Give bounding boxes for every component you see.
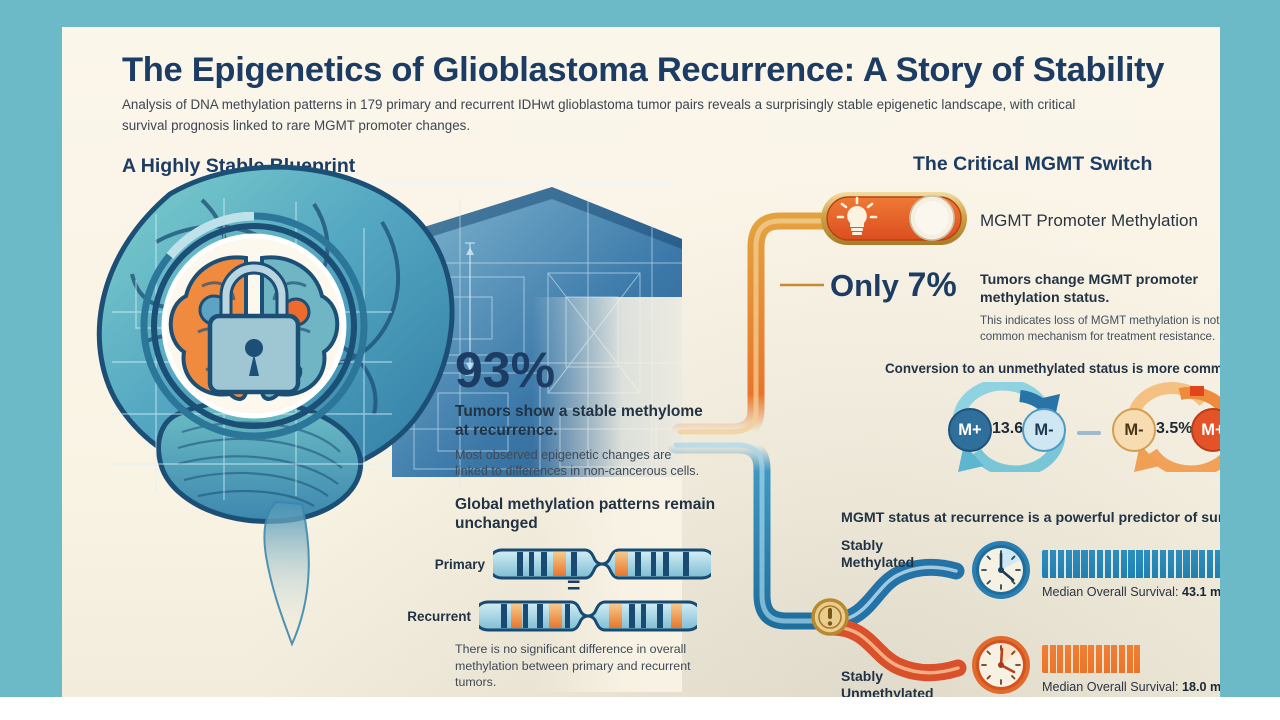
stat-lede-93: Tumors show a stable methylome at recurr…: [455, 402, 705, 441]
bar-segment: [1096, 645, 1102, 673]
mgmt-subheading: MGMT Promoter Methylation: [980, 210, 1220, 232]
conversion-divider: [1077, 431, 1101, 435]
bar-segment: [1183, 550, 1189, 578]
mgmt-switch-stat: Only 7%: [830, 266, 957, 305]
chromosome-heading: Global methylation patterns remain uncha…: [455, 495, 725, 534]
page-subtitle: Analysis of DNA methylation patterns in …: [122, 95, 1112, 137]
node-m-minus-target: M-: [1022, 408, 1066, 452]
chromosome-icon: [493, 547, 711, 581]
survival-label-methylated: StablyMethylated: [841, 537, 914, 571]
bar-segment: [1088, 645, 1094, 673]
infographic-canvas: The Epigenetics of Glioblastoma Recurren…: [0, 0, 1280, 720]
bar-segment: [1073, 550, 1079, 578]
clock-icon: [970, 634, 1032, 696]
bar-segment: [1176, 550, 1182, 578]
bar-segment: [1073, 645, 1079, 673]
stat-value-7: 7%: [908, 266, 957, 304]
caption-value: 18.0 months: [1182, 680, 1220, 694]
bar-segment: [1113, 550, 1119, 578]
bar-segment: [1042, 645, 1048, 673]
page-title: The Epigenetics of Glioblastoma Recurren…: [122, 52, 1202, 88]
bar-segment: [1134, 645, 1140, 673]
survival-bar-unmethylated: [1042, 645, 1142, 673]
chromosome-label-recurrent: Recurrent: [393, 609, 471, 624]
bar-segment: [1207, 550, 1213, 578]
bar-segment: [1121, 550, 1127, 578]
infographic-card: The Epigenetics of Glioblastoma Recurren…: [62, 27, 1220, 697]
clock-icon: [970, 539, 1032, 601]
bar-segment: [1050, 645, 1056, 673]
bar-segment: [1066, 550, 1072, 578]
bar-segment: [1050, 550, 1056, 578]
stable-methylome-stat: 93% Tumors show a stable methylome at re…: [455, 345, 705, 480]
bar-segment: [1128, 550, 1134, 578]
stat-prefix-only: Only: [830, 268, 899, 303]
lightbulb-toggle-switch[interactable]: [819, 190, 969, 247]
survival-label-unmethylated: StablyUnmethylated: [841, 668, 934, 697]
bar-segment: [1191, 550, 1197, 578]
bar-segment: [1058, 550, 1064, 578]
node-m-plus-source: M+: [948, 408, 992, 452]
bar-segment: [1065, 645, 1071, 673]
survival-heading: MGMT status at recurrence is a powerful …: [841, 510, 1220, 526]
bar-segment: [1111, 645, 1117, 673]
bottom-white-strip: [0, 697, 1280, 720]
caption-prefix: Median Overall Survival:: [1042, 680, 1182, 694]
bar-segment: [1042, 550, 1048, 578]
bar-segment: [1136, 550, 1142, 578]
chromosome-row-primary: Primary: [407, 547, 711, 581]
equals-symbol: =: [567, 572, 580, 599]
bar-segment: [1081, 550, 1087, 578]
mgmt-stat-note: This indicates loss of MGMT methylation …: [980, 313, 1220, 344]
bar-segment: [1097, 550, 1103, 578]
alert-node-icon: [813, 600, 847, 634]
bar-segment: [1127, 645, 1133, 673]
bar-segment: [1104, 645, 1110, 673]
bar-segment: [1168, 550, 1174, 578]
section-heading-right: The Critical MGMT Switch: [913, 153, 1152, 176]
chromosome-icon: [479, 599, 697, 633]
brain-lock-badge-icon: [140, 212, 368, 440]
bar-segment: [1152, 550, 1158, 578]
mgmt-stat-lede: Tumors change MGMT promoter methylation …: [980, 271, 1220, 307]
chromosome-note: There is no significant difference in ov…: [455, 641, 695, 691]
caption-value: 43.1 months: [1182, 585, 1220, 599]
stat-note-93: Most observed epigenetic changes are lin…: [455, 447, 705, 480]
bar-segment: [1105, 550, 1111, 578]
bar-segment: [1119, 645, 1125, 673]
bar-segment: [1080, 645, 1086, 673]
survival-caption-methylated: Median Overall Survival: 43.1 months: [1042, 585, 1220, 599]
bar-segment: [1144, 550, 1150, 578]
survival-bar-methylated: [1042, 550, 1220, 578]
bar-segment: [1057, 645, 1063, 673]
conversion-heading: Conversion to an unmethylated status is …: [885, 361, 1220, 376]
chromosome-row-recurrent: Recurrent: [393, 599, 697, 633]
caption-prefix: Median Overall Survival:: [1042, 585, 1182, 599]
survival-caption-unmethylated: Median Overall Survival: 18.0 months: [1042, 680, 1220, 694]
bar-segment: [1160, 550, 1166, 578]
bar-segment: [1089, 550, 1095, 578]
bar-segment: [1215, 550, 1220, 578]
conversion-percent-2: 3.5%: [1156, 420, 1192, 438]
node-m-minus-source: M-: [1112, 408, 1156, 452]
chromosome-label-primary: Primary: [407, 557, 485, 572]
stat-value-93: 93%: [455, 345, 705, 395]
bar-segment: [1199, 550, 1205, 578]
